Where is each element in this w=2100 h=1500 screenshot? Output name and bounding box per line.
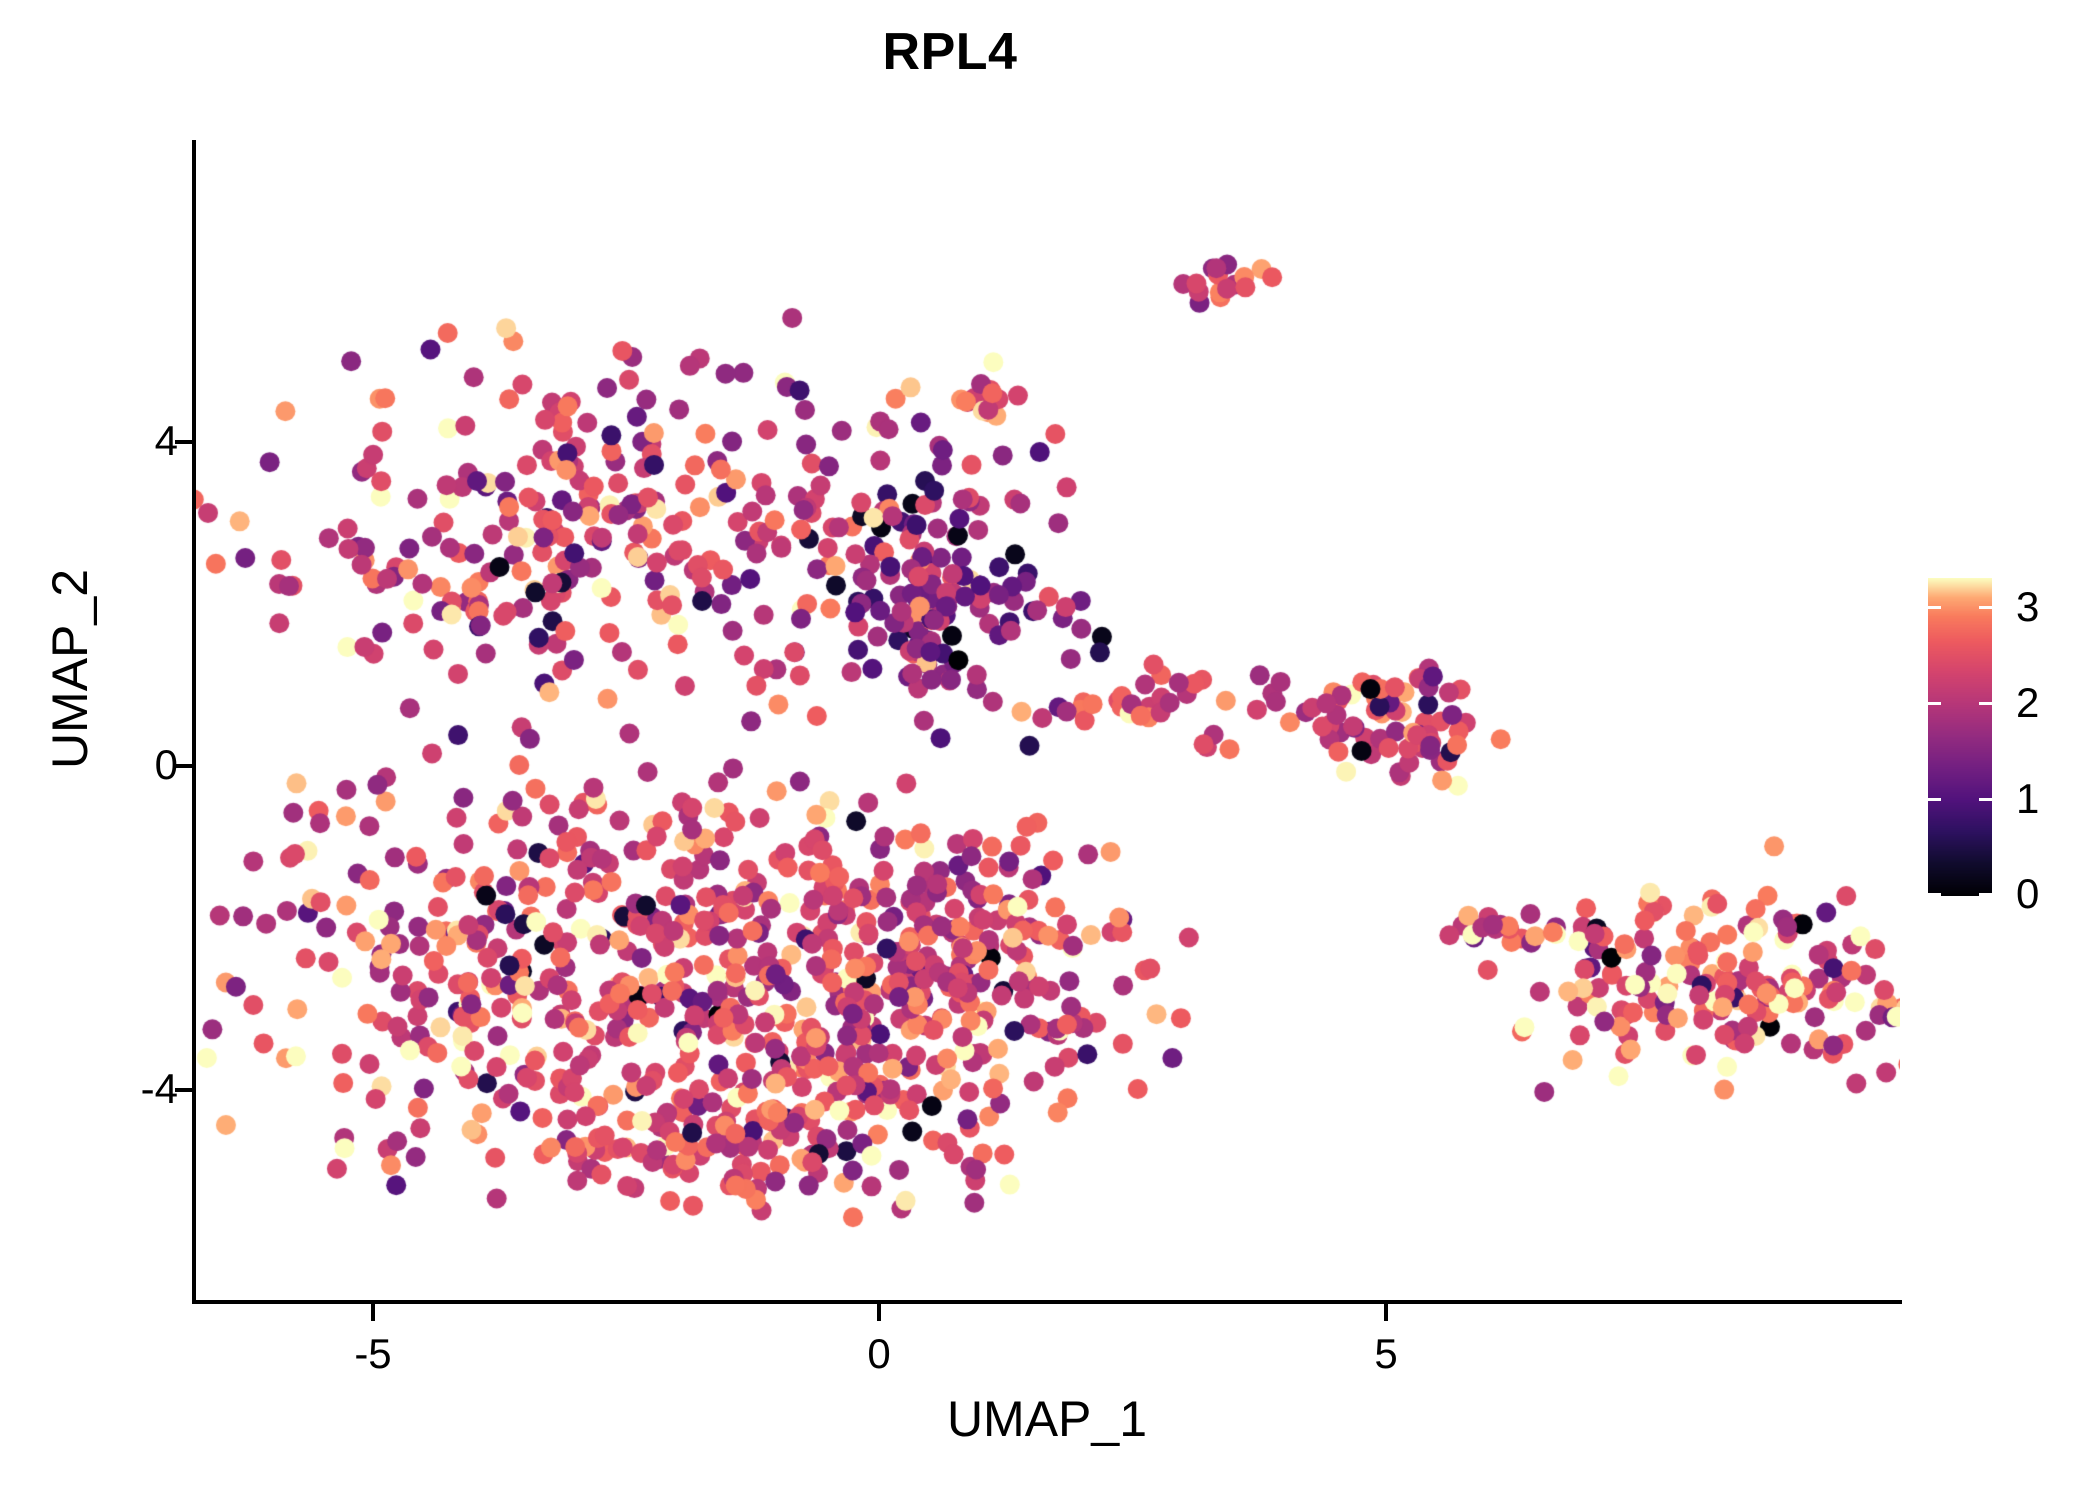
colorbar-label-0: 0 (2016, 870, 2039, 918)
colorbar-gradient (1928, 578, 1992, 896)
x-tick-label-5: 5 (1374, 1330, 1397, 1378)
chart-root: RPL4 4 0 -4 -5 0 5 UMAP_1 UMAP_2 3 2 1 0 (0, 0, 2100, 1500)
scatter-plot-canvas (194, 140, 1900, 1302)
colorbar-label-3: 3 (2016, 583, 2039, 631)
y-tick-label-0: 0 (155, 741, 178, 789)
colorbar-tick (1979, 798, 1992, 801)
y-axis-line (192, 140, 196, 1304)
x-axis-title: UMAP_1 (194, 1390, 1900, 1448)
colorbar-tick (1979, 606, 1992, 609)
colorbar-legend: 3 2 1 0 (1928, 578, 2088, 898)
colorbar-tick (1928, 606, 1941, 609)
plot-panel (194, 140, 1900, 1302)
colorbar-tick (1928, 798, 1941, 801)
colorbar-label-2: 2 (2016, 679, 2039, 727)
y-axis-title: UMAP_2 (41, 519, 99, 819)
x-axis-line (192, 1300, 1902, 1304)
x-tick-mark (371, 1304, 375, 1321)
y-tick-label-4: 4 (155, 417, 178, 465)
colorbar-tick (1928, 893, 1941, 896)
x-tick-mark (1384, 1304, 1388, 1321)
x-tick-label-0: 0 (867, 1330, 890, 1378)
x-tick-mark (877, 1304, 881, 1321)
colorbar-label-1: 1 (2016, 775, 2039, 823)
y-tick-label-neg4: -4 (141, 1065, 178, 1113)
colorbar-tick (1928, 702, 1941, 705)
x-tick-label-neg5: -5 (354, 1330, 391, 1378)
colorbar-tick (1979, 702, 1992, 705)
page-title: RPL4 (0, 22, 1900, 82)
colorbar-tick (1979, 893, 1992, 896)
